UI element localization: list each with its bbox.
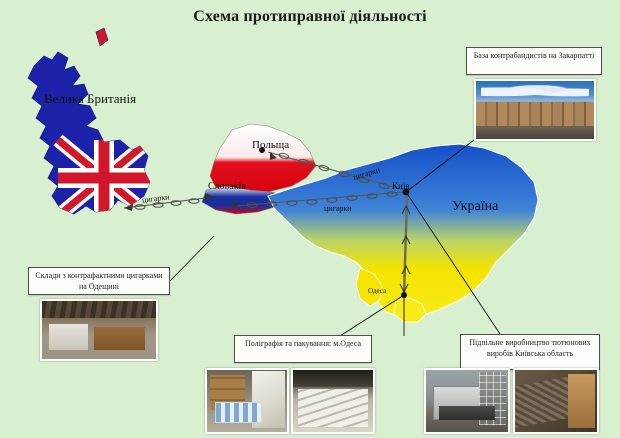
callout-leader-lines [170, 140, 500, 336]
city-markers [259, 147, 409, 298]
map-label-poland: Польща [252, 140, 289, 152]
map-label-ukraine: Україна [452, 200, 498, 215]
route-odesa-kyiv [400, 196, 410, 296]
map-region-uk [28, 28, 150, 216]
photo-warehouse-interior [40, 299, 158, 361]
photo-tobacco-machine [424, 368, 510, 434]
photo-packaging-stacks [291, 368, 375, 434]
map-label-odesa: Одеса [368, 288, 386, 295]
callout-pidpilne: Підпільне виробництво тютюнових виробів … [460, 334, 600, 370]
map-label-cigarettes-uk-route: цигарки [142, 193, 170, 205]
callout-zakarpattia: База контрабандистів на Закарпатті [466, 47, 602, 75]
callout-odeshchyna: Склади з контрафактними цигарками на Оде… [28, 267, 170, 295]
map-region-ukraine [268, 144, 538, 322]
map-label-cigarettes-slovakia-route: цигарки [324, 205, 352, 213]
slide-canvas: Схема протиправної діяльності [0, 0, 620, 438]
page-title: Схема протиправної діяльності [0, 8, 620, 26]
map-label-kyiv: Київ [392, 182, 410, 191]
map-label-uk: Велика Британія [44, 92, 124, 106]
callout-poligrafia: Поліграфія та пакування: м.Одеса [234, 335, 372, 363]
photo-packaging-boxes [205, 368, 289, 434]
photo-raw-tobacco [513, 368, 599, 434]
photo-contraband-base-yard [474, 79, 596, 141]
map-label-slovakia: Словакія [208, 182, 246, 193]
map-label-cigarettes-poland-route: цигарки [352, 166, 381, 182]
